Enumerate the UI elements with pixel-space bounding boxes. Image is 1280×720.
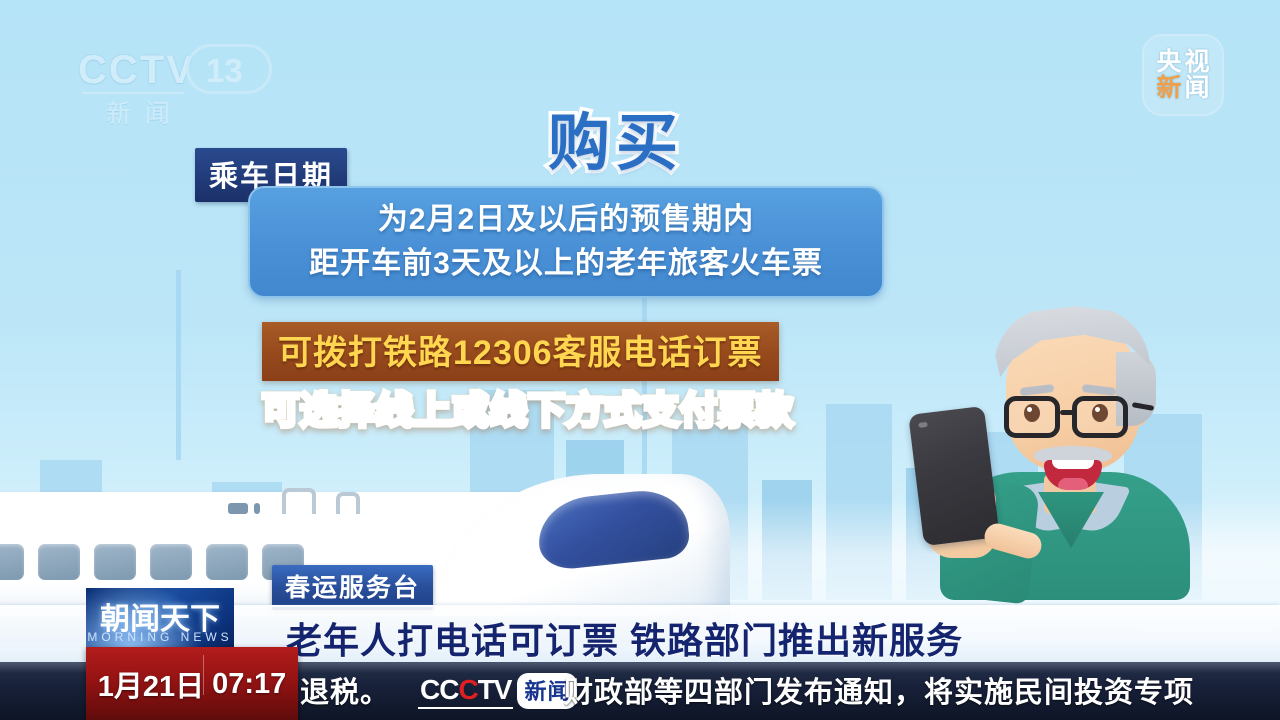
ticker-datetime-box: 1月21日 07:17 bbox=[86, 647, 298, 720]
watermark-char-wen: 闻 bbox=[1185, 76, 1210, 101]
graphic-orange-line: 可选择线上或线下方式支付票款 bbox=[262, 380, 794, 434]
program-name-en: MORNING NEWS bbox=[86, 630, 234, 644]
smartphone-icon bbox=[908, 406, 1000, 546]
watermark-char-shi: 视 bbox=[1185, 50, 1210, 75]
elderly-man-illustration bbox=[902, 300, 1222, 600]
ticker-previous-tail: 退税。 bbox=[300, 669, 390, 711]
watermark-char-xin: 新 bbox=[1156, 76, 1181, 101]
graphic-info-box: 为2月2日及以后的预售期内 距开车前3天及以上的老年旅客火车票 bbox=[248, 186, 884, 298]
cctv-news-ticker-logo: CCCTV 新闻 bbox=[418, 673, 577, 709]
graphic-highlight-line: 可拨打铁路12306客服电话订票 bbox=[262, 322, 779, 381]
ticker-time: 07:17 bbox=[212, 668, 286, 701]
graphic-section-title: 购买 bbox=[548, 92, 684, 182]
news-ticker-bar: 退税。 CCCTV 新闻 财政部等四部门发布通知，将实施民间投资专项 1月21日… bbox=[0, 662, 1280, 720]
info-line-2: 距开车前3天及以上的老年旅客火车票 bbox=[309, 242, 823, 286]
lower-third-headline: 老年人打电话可订票 铁路部门推出新服务 bbox=[286, 612, 963, 664]
eyeglasses-icon bbox=[1002, 396, 1148, 438]
broadcast-screen: CCTV 13 新闻 央 视 新 闻 购买 乘车日期 为2月2日及以后的预售期内… bbox=[0, 0, 1280, 720]
topic-tag: 春运服务台 bbox=[272, 565, 433, 610]
cctv-ticker-wordmark: CCCTV bbox=[418, 674, 513, 709]
ticker-date: 1月21日 bbox=[98, 663, 204, 705]
watermark-char-yang: 央 bbox=[1156, 50, 1181, 75]
cctv13-channel-logo: CCTV 13 新闻 bbox=[78, 48, 298, 128]
info-line-1: 为2月2日及以后的预售期内 bbox=[378, 198, 754, 242]
cctv13-number: 13 bbox=[206, 52, 243, 90]
cctv-news-app-watermark: 央 视 新 闻 bbox=[1142, 34, 1224, 116]
ticker-headline: 财政部等四部门发布通知，将实施民间投资专项 bbox=[564, 669, 1194, 711]
cctv13-subtitle: 新闻 bbox=[106, 94, 184, 130]
